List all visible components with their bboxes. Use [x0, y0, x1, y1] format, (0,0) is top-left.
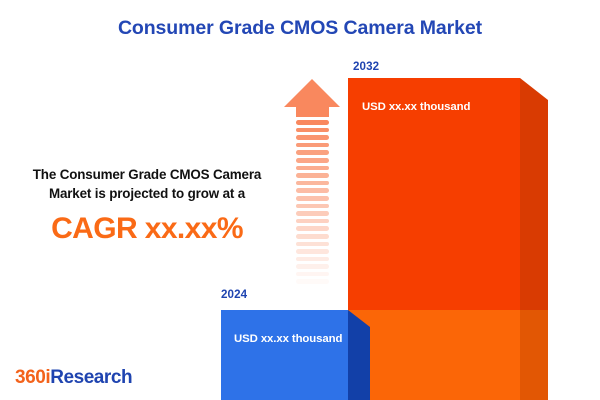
arrow-shaft-segment [296, 135, 329, 140]
callout-lead: The Consumer Grade CMOS Camera Market is… [8, 165, 286, 203]
arrow-shaft-segment [296, 234, 329, 239]
arrow-shaft-segment [296, 249, 329, 254]
bar-2024-value-label: USD xx.xx thousand [234, 333, 342, 345]
arrow-shaft-segment [296, 173, 329, 178]
cagr-value: CAGR xx.xx% [8, 212, 286, 246]
arrow-shaft-segment [296, 272, 329, 277]
arrow-head-icon [284, 79, 340, 107]
year-label-2032: 2032 [353, 60, 379, 73]
arrow-shaft-segment [296, 264, 329, 269]
arrow-shaft-segment [296, 181, 329, 186]
bar-2024: USD xx.xx thousand [221, 310, 348, 400]
callout-lead-line-1: The Consumer Grade CMOS Camera [8, 165, 286, 184]
bar-2032-face-bottom [348, 310, 520, 400]
arrow-shaft [296, 120, 329, 296]
bar-2032-side-bottom [520, 310, 548, 400]
bar-2024-face [221, 310, 348, 400]
bar-2032-value-label: USD xx.xx thousand [362, 101, 470, 113]
year-label-2024: 2024 [221, 288, 247, 301]
infographic-canvas: Consumer Grade CMOS Camera Market The Co… [0, 0, 600, 400]
arrow-shaft-segment [296, 226, 329, 231]
arrow-shaft-segment [296, 204, 329, 209]
arrow-shaft-segment [296, 279, 329, 284]
arrow-shaft-segment [296, 211, 329, 216]
arrow-shaft-segment [296, 242, 329, 247]
callout-lead-line-2: Market is projected to grow at a [8, 184, 286, 203]
arrow-shaft-segment [296, 287, 329, 292]
arrow-shaft-segment [296, 219, 329, 224]
callout-block: The Consumer Grade CMOS Camera Market is… [8, 165, 286, 246]
bar-2032: USD xx.xx thousand [348, 78, 520, 400]
arrow-shaft-segment [296, 128, 329, 133]
logo[interactable]: 360iResearch [15, 367, 132, 389]
arrow-shaft-segment [296, 158, 329, 163]
arrow-shaft-segment [296, 120, 329, 125]
arrow-shaft-segment [296, 150, 329, 155]
arrow-shaft-segment [296, 257, 329, 262]
arrow-shaft-segment [296, 196, 329, 201]
arrow-shaft-segment [296, 188, 329, 193]
bar-2032-side-top [520, 78, 548, 310]
arrow-neck [296, 106, 329, 117]
logo-360i: 360i [15, 367, 50, 388]
arrow-shaft-segment [296, 143, 329, 148]
arrow-shaft-segment [296, 166, 329, 171]
page-title: Consumer Grade CMOS Camera Market [0, 17, 600, 40]
logo-research: Research [50, 367, 132, 388]
growth-arrow-icon [284, 79, 341, 297]
